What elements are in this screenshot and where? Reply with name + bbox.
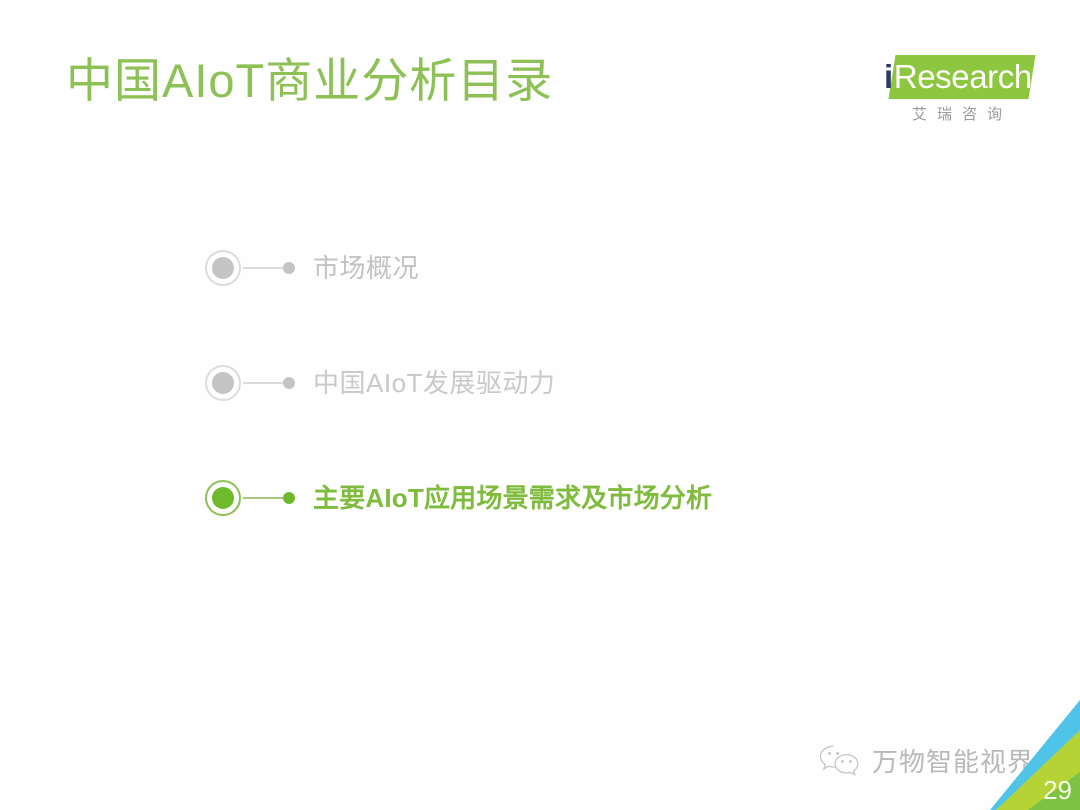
toc-item-application-scenarios[interactable]: 主要AIoT应用场景需求及市场分析 xyxy=(0,480,1080,595)
toc-item-label: 中国AIoT发展驱动力 xyxy=(313,362,555,404)
toc-item-market-overview[interactable]: 市场概况 xyxy=(0,250,1080,365)
ring-dot-icon xyxy=(205,480,241,516)
logo-letter-i: i xyxy=(884,58,893,95)
watermark-text: 万物智能视界 xyxy=(872,742,1034,779)
logo-wordmark: iResearch xyxy=(884,54,1036,100)
ring-dot-icon xyxy=(205,365,241,401)
iresearch-logo: iResearch 艾瑞咨询 xyxy=(876,47,1036,127)
ring-dot-icon xyxy=(205,250,241,286)
connector-line xyxy=(243,497,287,499)
marker-inner-dot xyxy=(212,372,234,394)
page-number: 29 xyxy=(1043,775,1072,806)
slide-canvas: 中国AIoT商业分析目录 iResearch 艾瑞咨询 市场概况 中国AIoT发… xyxy=(0,0,1080,810)
toc-item-aiot-drivers[interactable]: 中国AIoT发展驱动力 xyxy=(0,365,1080,480)
wechat-icon xyxy=(818,744,862,778)
connector-line xyxy=(243,382,287,384)
connector-end-dot-icon xyxy=(283,377,295,389)
toc-item-label: 市场概况 xyxy=(313,247,419,289)
logo-wordmark-rest: Research xyxy=(894,58,1032,95)
marker-inner-dot xyxy=(212,257,234,279)
toc-item-label: 主要AIoT应用场景需求及市场分析 xyxy=(313,477,712,519)
logo-subtitle: 艾瑞咨询 xyxy=(892,103,1032,124)
connector-end-dot-icon xyxy=(283,262,295,274)
connector-line xyxy=(243,267,287,269)
connector-end-dot-icon xyxy=(283,492,295,504)
toc-list: 市场概况 中国AIoT发展驱动力 主要AIoT应用场景需求及市场分析 xyxy=(0,250,1080,595)
page-title: 中国AIoT商业分析目录 xyxy=(66,54,553,108)
watermark: 万物智能视界 xyxy=(818,742,1034,779)
marker-inner-dot xyxy=(212,487,234,509)
